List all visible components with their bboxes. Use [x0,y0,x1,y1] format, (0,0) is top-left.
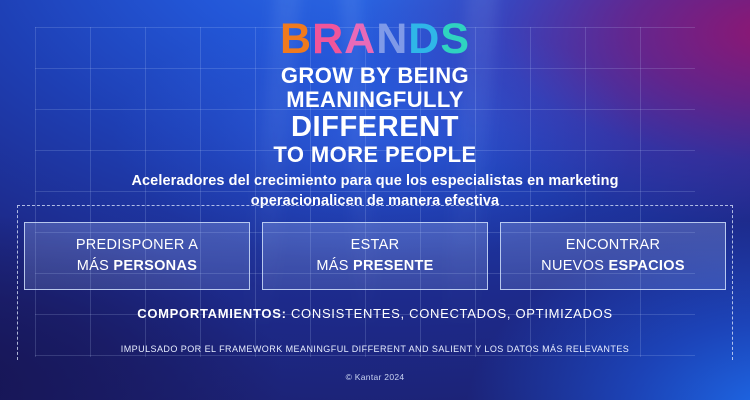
pillar-line-2: MÁS PERSONAS [76,256,198,277]
framework-line: IMPULSADO POR EL FRAMEWORK MEANINGFUL DI… [0,344,750,354]
pillar-line-2-bold: PERSONAS [113,258,197,274]
headline-line-1: GROW BY BEING [0,64,750,88]
pillar-line-1: ENCONTRAR [541,235,685,256]
pillar-line-2-prefix: MÁS [316,258,353,274]
pillar-line-2-prefix: MÁS [77,258,114,274]
brands-letter-r: R [312,18,344,61]
pillar-line-2-prefix: NUEVOS [541,258,608,274]
behaviours-label: COMPORTAMIENTOS: [137,306,286,321]
brands-letter-s: S [440,18,470,61]
headline-line-4: TO MORE PEOPLE [0,143,750,167]
pillar-card-encontrar[interactable]: ENCONTRAR NUEVOS ESPACIOS [500,222,726,290]
pillar-line-2-bold: PRESENTE [353,258,434,274]
behaviours-line: COMPORTAMIENTOS: CONSISTENTES, CONECTADO… [0,306,750,321]
brands-letter-a: A [344,18,376,61]
pillar-line-1: PREDISPONER A [76,235,198,256]
copyright-text: © Kantar 2024 [0,372,750,382]
brands-letter-b: B [280,18,312,61]
pillar-line-2: NUEVOS ESPACIOS [541,256,685,277]
headline-line-2: MEANINGFULLY [0,88,750,112]
brands-wordmark: BRANDS [280,18,470,61]
headline-line-3: DIFFERENT [0,112,750,144]
brands-letter-n: N [376,18,408,61]
pillars-row: PREDISPONER A MÁS PERSONAS ESTAR MÁS PRE… [24,222,726,290]
slide-canvas: BRANDS GROW BY BEING MEANINGFULLY DIFFER… [0,0,750,400]
headline-block: BRANDS GROW BY BEING MEANINGFULLY DIFFER… [0,18,750,167]
pillar-card-estar[interactable]: ESTAR MÁS PRESENTE [262,222,488,290]
subtitle-line-1: Aceleradores del crecimiento para que lo… [0,172,750,192]
pillar-line-2-bold: ESPACIOS [609,258,685,274]
pillar-line-1: ESTAR [316,235,433,256]
behaviours-values: CONSISTENTES, CONECTADOS, OPTIMIZADOS [291,306,613,321]
pillar-card-predisponer[interactable]: PREDISPONER A MÁS PERSONAS [24,222,250,290]
brands-letter-d: D [408,18,440,61]
pillar-line-2: MÁS PRESENTE [316,256,433,277]
